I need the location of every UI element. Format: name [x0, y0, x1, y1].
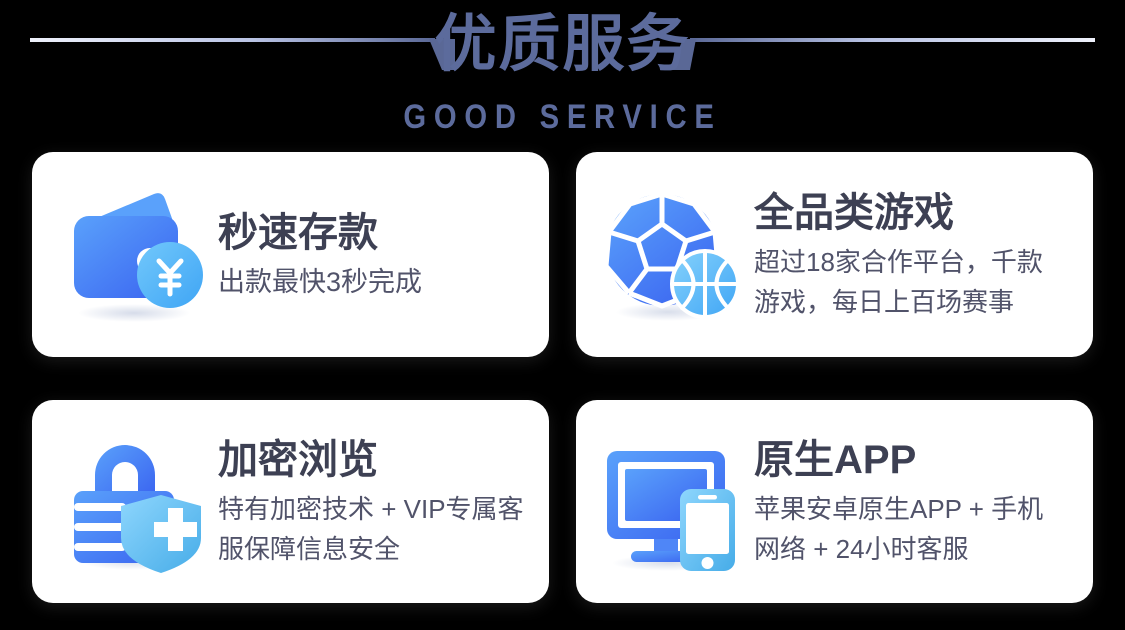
card-text: 原生APP 苹果安卓原生APP + 手机 网络 + 24小时客服	[748, 435, 1093, 569]
card-text: 加密浏览 特有加密技术 + VIP专属客 服保障信息安全	[212, 435, 549, 569]
header: 优质服务 GOOD SERVICE	[0, 0, 1125, 150]
card-desc-line: 苹果安卓原生APP + 手机	[754, 489, 1079, 529]
card-desc-line: 网络 + 24小时客服	[754, 529, 1079, 569]
card-description: 特有加密技术 + VIP专属客 服保障信息安全	[218, 489, 535, 569]
feature-card-games[interactable]: 全品类游戏 超过18家合作平台，千款 游戏，每日上百场赛事	[576, 152, 1093, 357]
card-title: 秒速存款	[218, 208, 535, 258]
soccer-basketball-icon	[598, 180, 748, 330]
card-description: 超过18家合作平台，千款 游戏，每日上百场赛事	[754, 242, 1079, 322]
card-title: 全品类游戏	[754, 188, 1079, 238]
feature-card-deposit[interactable]: 秒速存款 出款最快3秒完成	[32, 152, 549, 357]
card-title: 原生APP	[754, 435, 1079, 485]
card-description: 苹果安卓原生APP + 手机 网络 + 24小时客服	[754, 489, 1079, 569]
page-title: 优质服务	[0, 6, 1125, 84]
card-text: 全品类游戏 超过18家合作平台，千款 游戏，每日上百场赛事	[748, 188, 1093, 322]
card-desc-line: 游戏，每日上百场赛事	[754, 282, 1079, 322]
feature-card-native-app[interactable]: 原生APP 苹果安卓原生APP + 手机 网络 + 24小时客服	[576, 400, 1093, 603]
feature-card-grid: 秒速存款 出款最快3秒完成	[32, 152, 1093, 603]
lock-shield-icon	[62, 427, 212, 577]
card-description: 出款最快3秒完成	[218, 262, 535, 302]
card-text: 秒速存款 出款最快3秒完成	[212, 208, 549, 302]
promo-banner: 优质服务 GOOD SERVICE	[0, 0, 1125, 630]
card-desc-line: 超过18家合作平台，千款	[754, 242, 1079, 282]
page-subtitle: GOOD SERVICE	[79, 98, 1047, 136]
card-desc-line: 服保障信息安全	[218, 529, 535, 569]
monitor-phone-icon	[598, 427, 748, 577]
card-desc-line: 特有加密技术 + VIP专属客	[218, 489, 535, 529]
feature-card-encryption[interactable]: 加密浏览 特有加密技术 + VIP专属客 服保障信息安全	[32, 400, 549, 603]
card-title: 加密浏览	[218, 435, 535, 485]
card-desc-line: 出款最快3秒完成	[218, 262, 535, 302]
wallet-yen-icon	[62, 180, 212, 330]
